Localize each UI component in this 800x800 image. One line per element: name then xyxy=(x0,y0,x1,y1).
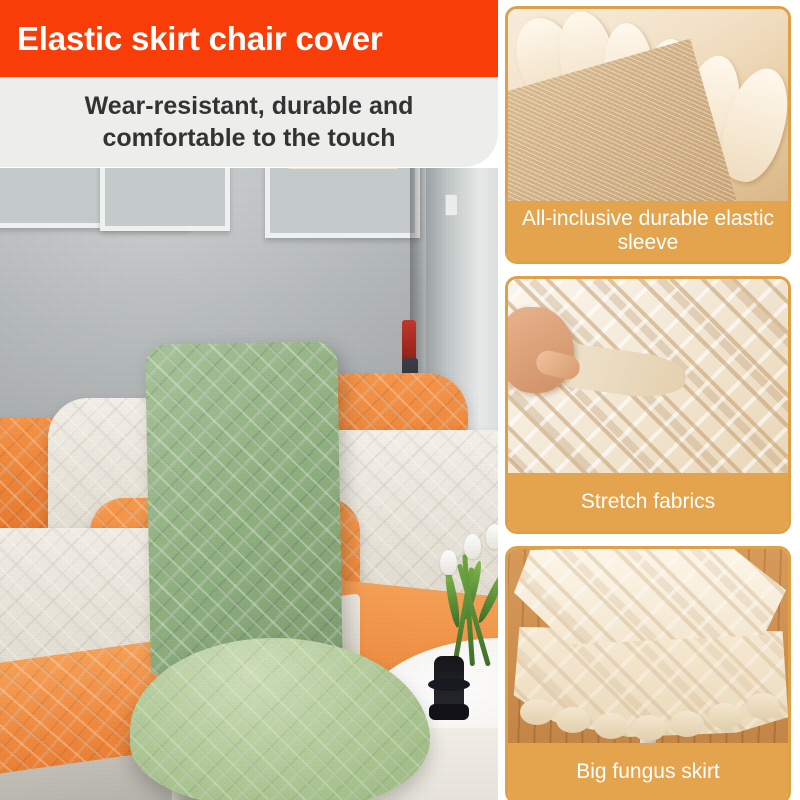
subtitle-line-1: Wear-resistant, durable and xyxy=(85,90,414,122)
subtitle-line-2: comfortable to the touch xyxy=(102,122,395,154)
feature-photo-stretch-fabrics xyxy=(508,279,788,475)
tulip-bud xyxy=(440,550,457,575)
green-chair-seat-cover xyxy=(130,638,430,800)
jacquard-texture xyxy=(145,341,343,674)
jacquard-texture xyxy=(130,638,430,800)
skirt-scallop xyxy=(632,715,666,741)
tulip-bud xyxy=(486,524,498,549)
header: Elastic skirt chair cover Wear-resistant… xyxy=(0,0,498,167)
promo-banner: Elastic skirt chair cover Wear-resistant… xyxy=(0,0,800,800)
light-switch xyxy=(445,194,458,216)
skirt-scallop xyxy=(594,713,628,739)
page-title: Elastic skirt chair cover xyxy=(0,20,383,58)
feature-caption-fungus-skirt: Big fungus skirt xyxy=(508,743,788,800)
tulip-bud xyxy=(464,534,481,559)
skirt-scallop xyxy=(520,699,554,725)
green-chair-back-cover xyxy=(145,341,343,674)
feature-caption-elastic-sleeve: All-inclusive durable elastic sleeve xyxy=(508,201,788,261)
red-object xyxy=(402,320,416,362)
feature-card-stretch-fabrics: Stretch fabrics xyxy=(505,276,791,534)
feature-caption-stretch-fabrics: Stretch fabrics xyxy=(508,473,788,531)
subtitle-band: Wear-resistant, durable and comfortable … xyxy=(0,77,498,167)
skirt-scallop xyxy=(556,707,590,733)
main-product-photo xyxy=(0,168,498,800)
skirt-scallop xyxy=(708,703,742,729)
feature-card-elastic-sleeve: All-inclusive durable elastic sleeve xyxy=(505,6,791,264)
wall-panel-frame xyxy=(100,168,230,231)
wall-panel-frame xyxy=(265,168,420,238)
title-band: Elastic skirt chair cover xyxy=(0,0,498,77)
feature-photo-fungus-skirt xyxy=(508,549,788,745)
feature-photo-elastic-sleeve xyxy=(508,9,788,207)
skirt-scallop xyxy=(746,693,780,719)
black-vase xyxy=(434,656,464,718)
skirt-scallop xyxy=(670,711,704,737)
feature-card-fungus-skirt: Big fungus skirt xyxy=(505,546,791,800)
